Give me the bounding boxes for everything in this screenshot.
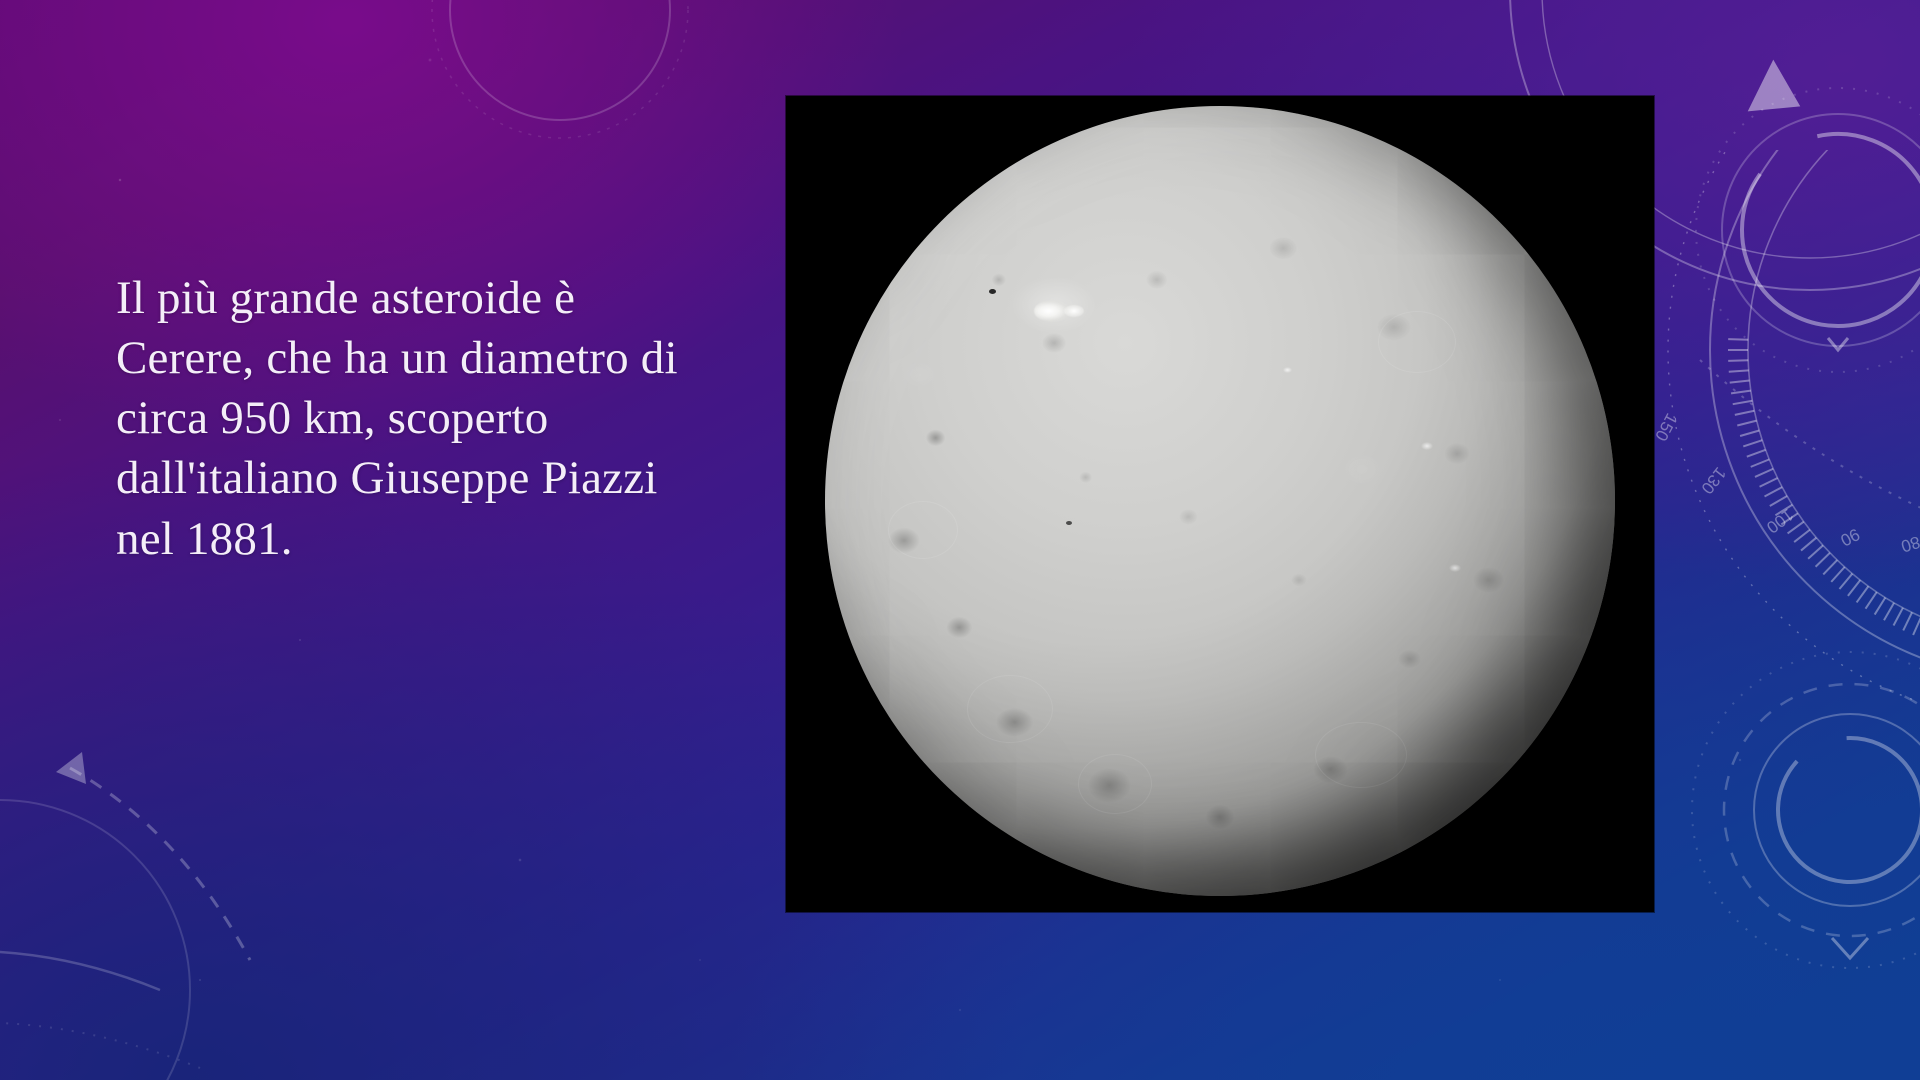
dial-tick-label: 130 xyxy=(1697,464,1729,498)
slide-canvas: 210 200 190 150 130 100 xyxy=(0,0,1920,1080)
arrow-head-icon xyxy=(56,752,86,784)
dial-tick-label: 80 xyxy=(1899,532,1920,556)
dial-tick-label: 90 xyxy=(1837,524,1862,550)
body-text-block: Il più grande asteroide è Cerere, che ha… xyxy=(116,268,686,569)
dial-tick-label: 100 xyxy=(1763,505,1797,537)
chevron-down-icon xyxy=(1832,938,1868,958)
thin-arc-bottom-left xyxy=(0,760,300,1080)
limb-shading xyxy=(825,106,1615,896)
dashed-arc-arrow-bottom-left xyxy=(0,660,440,1080)
concentric-ring-top-right xyxy=(1688,80,1920,380)
concentric-ring-bottom-right xyxy=(1660,620,1920,1020)
ceres-image xyxy=(786,96,1654,912)
thin-arc-top-left xyxy=(430,0,690,140)
ceres-body xyxy=(825,106,1615,896)
dial-tick-label: 150 xyxy=(1651,410,1681,444)
chevron-down-icon xyxy=(1828,338,1848,350)
ceres-image-inner xyxy=(786,96,1654,912)
body-paragraph: Il più grande asteroide è Cerere, che ha… xyxy=(116,268,686,569)
dial-pointer-icon xyxy=(1732,60,1801,131)
